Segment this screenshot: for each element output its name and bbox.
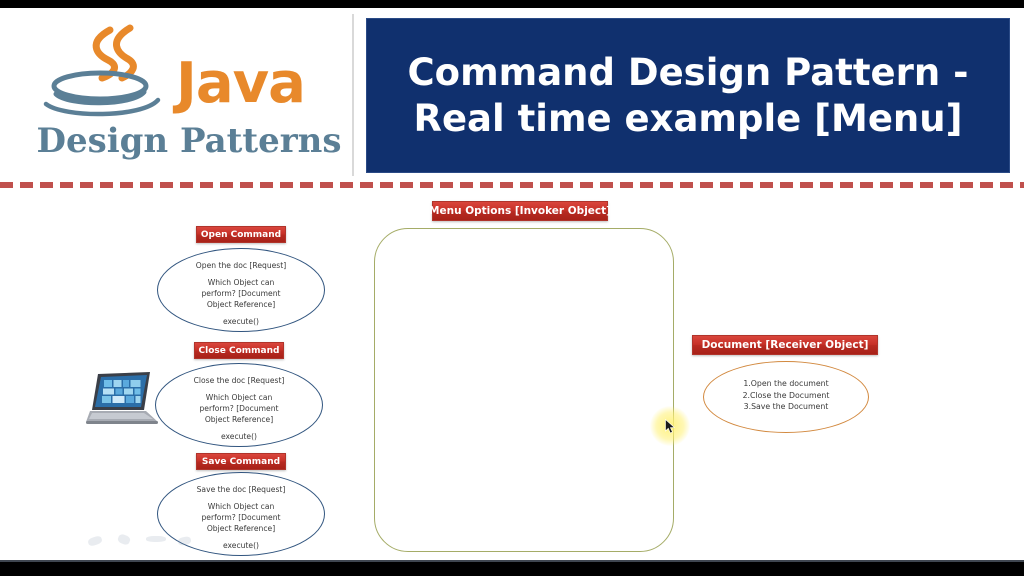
faint-decorative-marks	[88, 533, 218, 549]
command-question-close-1: Which Object can	[206, 393, 273, 402]
command-method-close: execute()	[155, 431, 323, 442]
command-question-open-2: perform? [Document	[201, 289, 280, 298]
receiver-label: Document [Receiver Object]	[692, 335, 878, 355]
command-body-close: Close the doc [Request] Which Object can…	[155, 375, 323, 442]
title-banner: Command Design Pattern - Real time examp…	[366, 18, 1010, 173]
command-question-save-3: Object Reference]	[207, 524, 275, 533]
logo-wordmark: Java	[176, 56, 305, 112]
header-dashed-rule	[0, 182, 1024, 188]
command-question-open-3: Object Reference]	[207, 300, 275, 309]
logo-submark: Design Patterns	[24, 124, 354, 158]
slide-header: Java Design Patterns Command Design Patt…	[0, 8, 1024, 180]
command-request-open: Open the doc [Request]	[157, 260, 325, 271]
laptop-icon	[84, 370, 162, 426]
command-question-save-1: Which Object can	[208, 502, 275, 511]
page-title-line-1: Command Design Pattern -	[408, 51, 969, 94]
mouse-cursor-icon	[665, 419, 676, 434]
header-divider	[352, 14, 354, 176]
command-label-close: Close Command	[194, 342, 284, 359]
command-label-open: Open Command	[196, 226, 286, 243]
command-question-close-2: perform? [Document	[199, 404, 278, 413]
receiver-item-1: 1.Open the document	[703, 378, 869, 390]
receiver-item-3: 3.Save the Document	[703, 401, 869, 413]
command-question-open-1: Which Object can	[208, 278, 275, 287]
invoker-label: Menu Options [Invoker Object]	[432, 201, 608, 221]
receiver-item-2: 2.Close the Document	[703, 390, 869, 402]
command-body-open: Open the doc [Request] Which Object can …	[157, 260, 325, 327]
command-label-save: Save Command	[196, 453, 286, 470]
page-title: Command Design Pattern - Real time examp…	[394, 50, 983, 140]
diagram-canvas: Menu Options [Invoker Object] Open Comma…	[0, 190, 1024, 562]
command-question-close-3: Object Reference]	[205, 415, 273, 424]
letterbox-bottom-bar	[0, 562, 1024, 576]
java-design-patterns-logo: Java Design Patterns	[18, 18, 348, 173]
invoker-object-box	[374, 228, 674, 552]
command-request-close: Close the doc [Request]	[155, 375, 323, 386]
java-coffee-cup-icon	[38, 24, 178, 124]
slide-screenshot: Java Design Patterns Command Design Patt…	[0, 0, 1024, 576]
receiver-item-list: 1.Open the document 2.Close the Document…	[703, 378, 869, 413]
letterbox-top-bar	[0, 0, 1024, 8]
command-question-save-2: perform? [Document	[201, 513, 280, 522]
page-title-line-2: Real time example [Menu]	[413, 97, 962, 140]
command-request-save: Save the doc [Request]	[157, 484, 325, 495]
command-method-open: execute()	[157, 316, 325, 327]
